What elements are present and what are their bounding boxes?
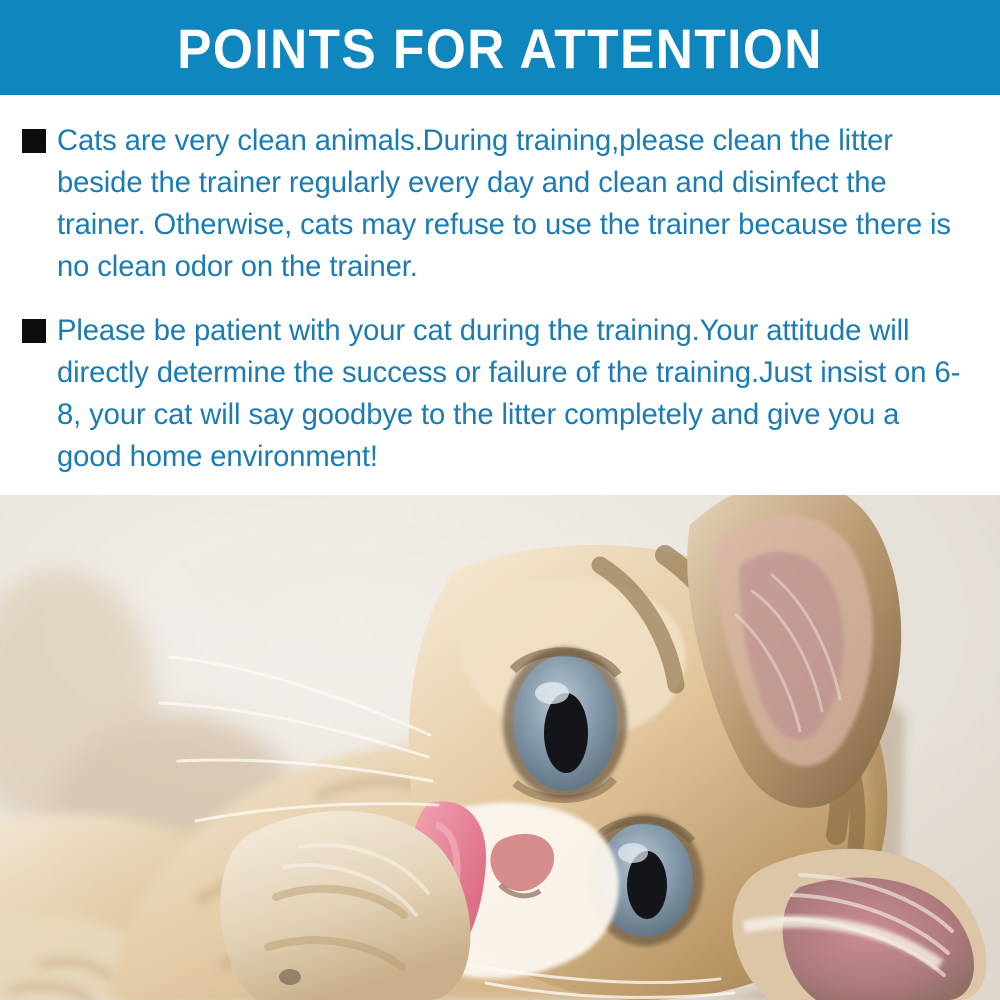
- page-title: POINTS FOR ATTENTION: [177, 21, 823, 77]
- list-item: Please be patient with your cat during t…: [22, 310, 980, 478]
- note-text: Cats are very clean animals.During train…: [57, 120, 971, 288]
- black-square-bullet-icon: [22, 129, 46, 153]
- header-banner: POINTS FOR ATTENTION: [0, 0, 1000, 95]
- kitten-photo-illustration: [0, 495, 1000, 1000]
- kitten-photo: [0, 495, 1000, 1000]
- list-item: Cats are very clean animals.During train…: [22, 120, 980, 288]
- black-square-bullet-icon: [22, 319, 46, 343]
- product-info-page: POINTS FOR ATTENTION Cats are very clean…: [0, 0, 1000, 1000]
- attention-notes-list: Cats are very clean animals.During train…: [0, 95, 1000, 495]
- note-text: Please be patient with your cat during t…: [57, 310, 971, 478]
